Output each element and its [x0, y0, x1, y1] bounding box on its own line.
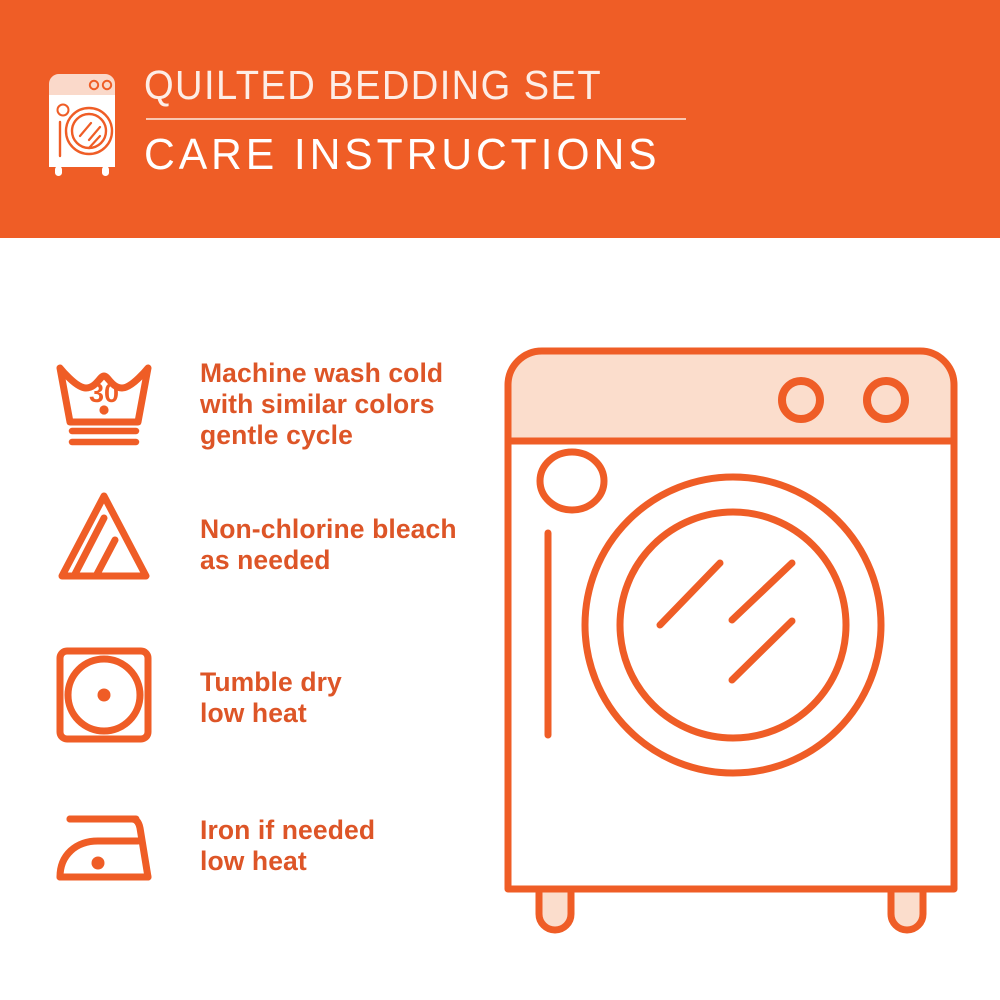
care-item-machine-wash: 30 Machine wash cold with similar colors… — [52, 346, 443, 451]
bleach-triangle-icon — [52, 488, 156, 584]
care-item-bleach: Non-chlorine bleach as needed — [52, 488, 457, 584]
care-item-text: Non-chlorine bleach as needed — [200, 488, 457, 576]
care-item-text: Iron if needed low heat — [200, 793, 375, 877]
wash-temperature-label: 30 — [89, 378, 119, 408]
header-banner: QUILTED BEDDING SET CARE INSTRUCTIONS — [0, 0, 1000, 238]
care-item-iron: Iron if needed low heat — [52, 793, 375, 897]
washing-machine-icon — [44, 70, 120, 182]
leg-left — [539, 889, 571, 930]
header-title-group: QUILTED BEDDING SET CARE INSTRUCTIONS — [144, 60, 686, 180]
tumble-dry-icon — [52, 643, 156, 747]
iron-icon — [52, 793, 156, 897]
page-title: QUILTED BEDDING SET — [144, 60, 648, 110]
header-content: QUILTED BEDDING SET CARE INSTRUCTIONS — [44, 60, 686, 182]
care-instructions-page: QUILTED BEDDING SET CARE INSTRUCTIONS 30… — [0, 0, 1000, 1000]
large-washing-machine-illustration — [492, 335, 970, 935]
page-subtitle: CARE INSTRUCTIONS — [144, 130, 670, 180]
care-item-tumble-dry: Tumble dry low heat — [52, 643, 342, 747]
care-item-text: Machine wash cold with similar colors ge… — [200, 346, 443, 451]
control-panel — [508, 351, 954, 441]
care-symbol-list: 30 Machine wash cold with similar colors… — [0, 238, 470, 1000]
care-item-text: Tumble dry low heat — [200, 643, 342, 729]
wash-tub-icon: 30 — [52, 346, 156, 450]
leg-right — [891, 889, 923, 930]
title-divider — [146, 118, 686, 120]
